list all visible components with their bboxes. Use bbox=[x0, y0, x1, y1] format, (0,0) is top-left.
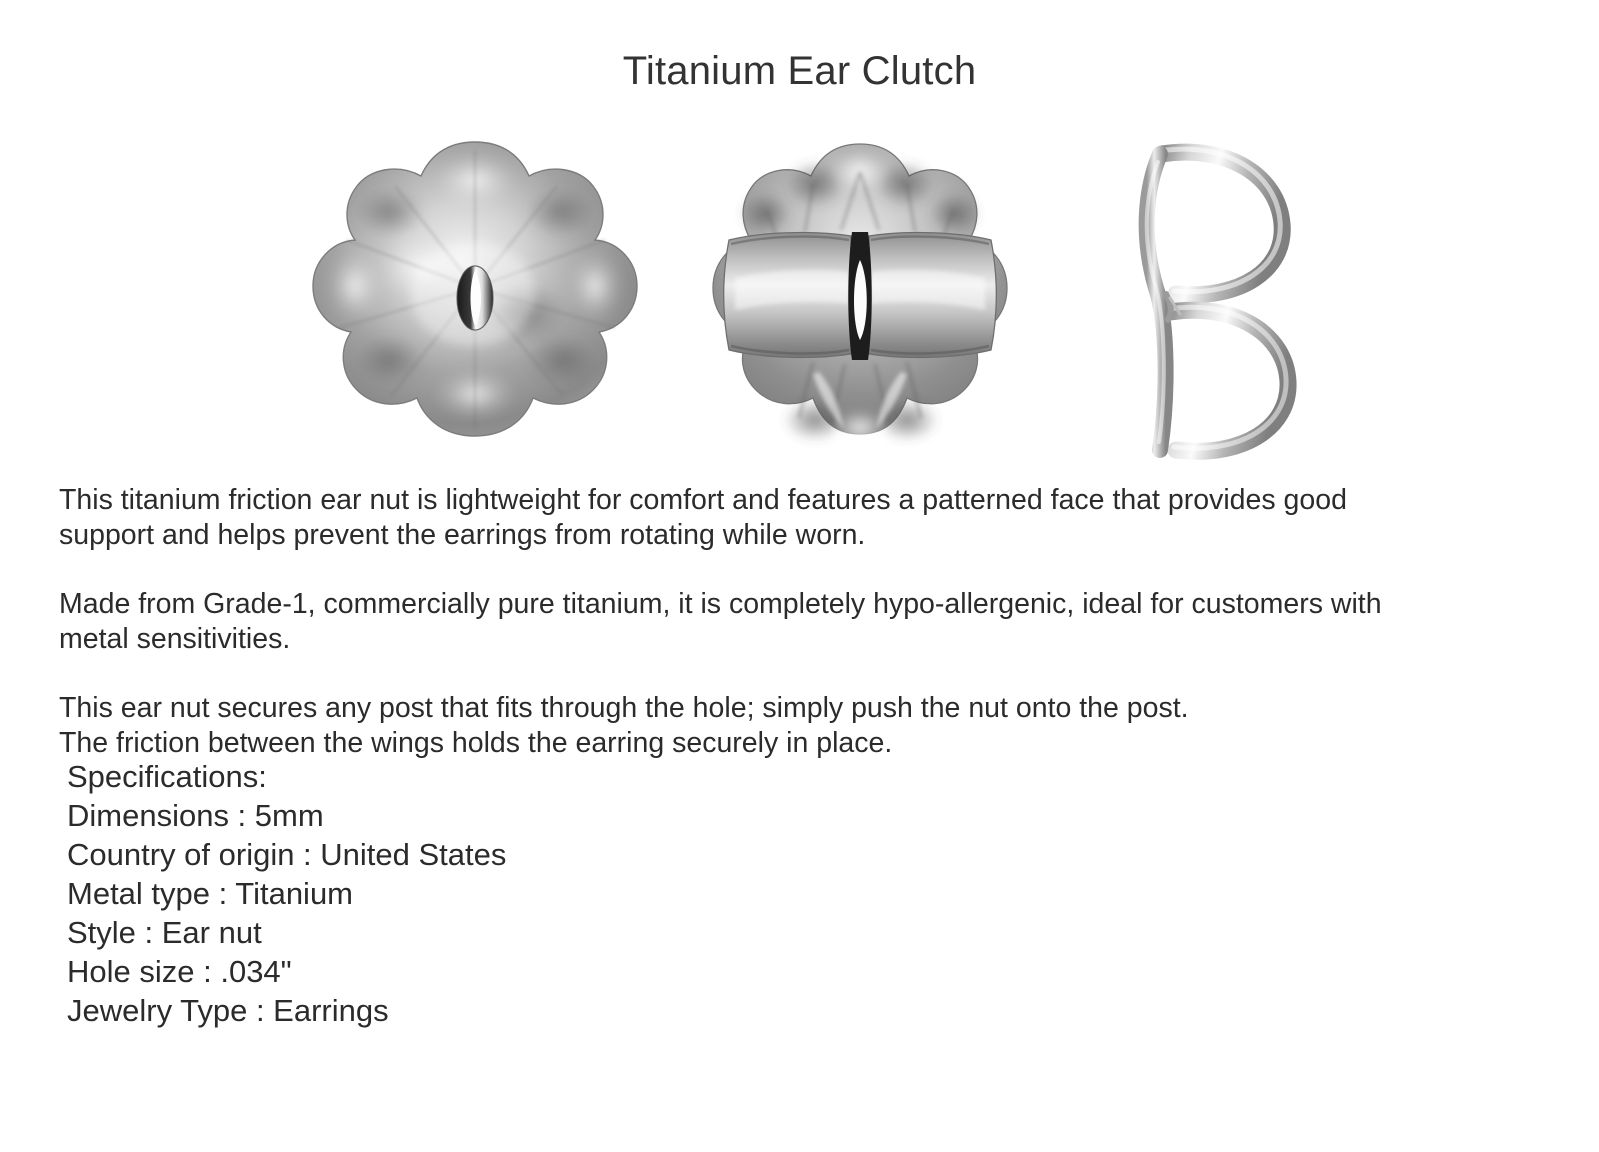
spec-item-style: Style : Ear nut bbox=[67, 913, 867, 952]
product-image-front-view[interactable] bbox=[295, 128, 655, 468]
side-view-loop-lower bbox=[1170, 310, 1288, 451]
page-title: Titanium Ear Clutch bbox=[0, 47, 1599, 95]
front-view-body bbox=[313, 142, 637, 436]
description-paragraph-3: This ear nut secures any post that fits … bbox=[59, 691, 1437, 761]
description-paragraph-1: This titanium friction ear nut is lightw… bbox=[59, 483, 1437, 553]
specifications-block: Specifications: Dimensions : 5mm Country… bbox=[67, 757, 867, 1030]
spec-item-metal-type: Metal type : Titanium bbox=[67, 874, 867, 913]
side-view-body bbox=[1147, 149, 1288, 451]
back-view-wing-right bbox=[869, 233, 996, 358]
product-description: This titanium friction ear nut is lightw… bbox=[59, 483, 1437, 761]
spec-item-dimensions: Dimensions : 5mm bbox=[67, 796, 867, 835]
product-image-side-view[interactable] bbox=[1110, 128, 1330, 478]
product-gallery bbox=[285, 128, 1345, 478]
description-paragraph-2: Made from Grade-1, commercially pure tit… bbox=[59, 587, 1437, 657]
back-view-body bbox=[713, 144, 1007, 446]
side-view-loop-upper bbox=[1162, 152, 1282, 295]
back-view-slot bbox=[848, 232, 872, 360]
specifications-heading: Specifications: bbox=[67, 757, 867, 796]
front-view-hole bbox=[457, 266, 493, 330]
product-image-back-view[interactable] bbox=[695, 128, 1025, 468]
back-view-wing-left bbox=[724, 233, 851, 358]
spec-item-hole-size: Hole size : .034" bbox=[67, 952, 867, 991]
spec-item-country-of-origin: Country of origin : United States bbox=[67, 835, 867, 874]
spec-item-jewelry-type: Jewelry Type : Earrings bbox=[67, 991, 867, 1030]
